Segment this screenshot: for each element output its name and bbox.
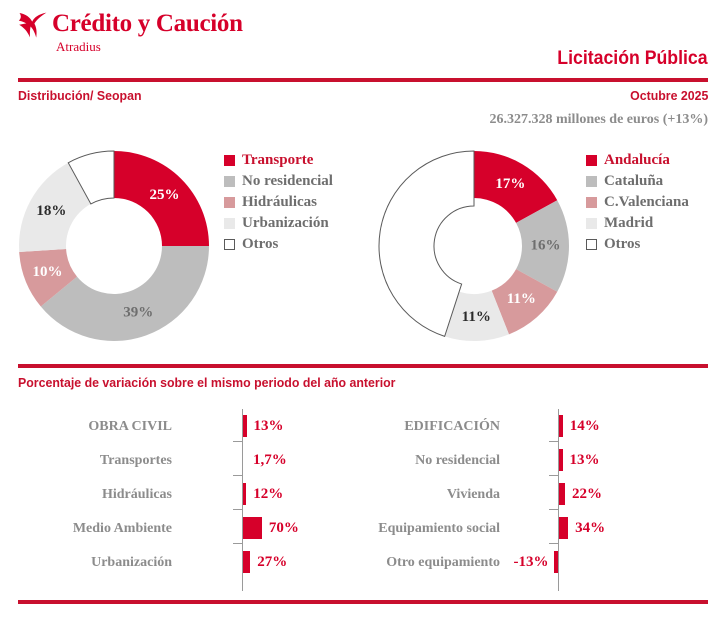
bar-chart-obra-civil: OBRA CIVIL13%Transportes1,7%Hidráulicas1…: [0, 405, 360, 595]
divider-middle: [18, 364, 708, 368]
donut-value-madrid: 11%: [462, 309, 491, 325]
bar-value-label: 70%: [269, 520, 299, 537]
legend-swatch-madrid: [586, 218, 597, 229]
legend-item[interactable]: Otros: [224, 234, 333, 255]
bar-axis-tick: [549, 543, 558, 544]
legend-item[interactable]: C.Valenciana: [586, 192, 689, 213]
divider-top: [18, 78, 708, 82]
donut-value-transporte: 25%: [150, 187, 180, 203]
bar-category-label: EDIFICACIÓN: [320, 419, 500, 435]
bar-value-label: 34%: [575, 520, 605, 537]
brand-logo: Crédito y Caución Atradius: [18, 8, 338, 58]
section-amount: 26.327.328 millones de euros (+13%): [490, 112, 709, 128]
legend-item[interactable]: Andalucía: [586, 150, 689, 171]
bar-category-label: Transportes: [0, 453, 172, 469]
brand-name: Crédito y Caución: [52, 10, 243, 38]
legend-item[interactable]: Madrid: [586, 213, 689, 234]
bar-axis-tick: [549, 441, 558, 442]
bar-value-label: 1,7%: [253, 452, 287, 469]
bar-row[interactable]: Hidráulicas12%: [0, 479, 360, 513]
section-label-left: Distribución/ Seopan: [18, 88, 142, 103]
donut-value-andaluc-a: 17%: [495, 176, 525, 192]
donut-chart-distribucion-svg: 25%39%10%18%: [14, 146, 214, 346]
legend-swatch-transporte: [224, 155, 235, 166]
bar-category-label: Urbanización: [0, 555, 172, 571]
donut-chart-comunidad-svg: 17%16%11%11%: [374, 146, 574, 346]
bar-category-label: Hidráulicas: [0, 487, 172, 503]
donut-value-no-residencial: 39%: [123, 305, 153, 321]
legend-item[interactable]: Otros: [586, 234, 689, 255]
bar-category-label: Medio Ambiente: [0, 521, 172, 537]
divider-bottom: [18, 600, 708, 604]
brand-subtitle: Atradius: [56, 39, 101, 55]
legend-label-otros: Otros: [604, 236, 640, 253]
bar-rect: [559, 415, 563, 437]
bar-row[interactable]: No residencial13%: [320, 445, 726, 479]
legend-swatch-hidraulicas: [224, 197, 235, 208]
legend-swatch-cvalenciana: [586, 197, 597, 208]
legend-swatch-otros: [586, 239, 597, 250]
bar-axis-tick: [233, 543, 242, 544]
bar-category-label: Otro equipamiento: [320, 555, 500, 571]
legend-item[interactable]: Cataluña: [586, 171, 689, 192]
legend-label-no-residencial: No residencial: [242, 173, 333, 190]
bar-value-label: 13%: [570, 452, 600, 469]
bar-category-label: OBRA CIVIL: [0, 419, 172, 435]
legend-label-transporte: Transporte: [242, 152, 313, 169]
bar-value-label: 27%: [257, 554, 287, 571]
legend-item[interactable]: Transporte: [224, 150, 333, 171]
bar-rect: [243, 551, 250, 573]
legend-swatch-no-residencial: [224, 176, 235, 187]
bar-row[interactable]: Transportes1,7%: [0, 445, 360, 479]
credito-y-caucion-star-icon: [18, 11, 48, 39]
legend-item[interactable]: Hidráulicas: [224, 192, 333, 213]
legend-label-andalucia: Andalucía: [604, 152, 670, 169]
legend-label-hidraulicas: Hidráulicas: [242, 194, 317, 211]
section-label-period: Octubre 2025: [630, 88, 708, 103]
bar-axis-tick: [549, 475, 558, 476]
donut-value-catalu-a: 16%: [531, 237, 561, 253]
variation-title: Porcentaje de variación sobre el mismo p…: [18, 375, 395, 390]
bar-value-label: -13%: [502, 554, 548, 571]
legend-swatch-andalucia: [586, 155, 597, 166]
donut-value-hidr-ulicas: 10%: [33, 264, 63, 280]
legend-item[interactable]: No residencial: [224, 171, 333, 192]
bar-rect: [559, 517, 568, 539]
legend-swatch-urbanizacion: [224, 218, 235, 229]
report-sheet: Crédito y Caución Atradius Licitación Pú…: [0, 0, 726, 617]
bar-row[interactable]: Urbanización27%: [0, 547, 360, 581]
donut-value-urbanizaci-n: 18%: [36, 203, 66, 219]
legend-item[interactable]: Urbanización: [224, 213, 333, 234]
bar-category-label: Equipamiento social: [320, 521, 500, 537]
bar-rect: [559, 449, 563, 471]
bar-value-label: 13%: [254, 418, 284, 435]
bar-rect: [243, 415, 247, 437]
legend-distribucion: Transporte No residencial Hidráulicas Ur…: [224, 150, 333, 255]
bar-axis-tick: [549, 509, 558, 510]
bar-rect: [243, 517, 262, 539]
bar-axis-tick: [233, 509, 242, 510]
bar-rect: [559, 483, 565, 505]
legend-swatch-cataluna: [586, 176, 597, 187]
bar-value-label: 22%: [572, 486, 602, 503]
legend-label-otros: Otros: [242, 236, 278, 253]
bar-row[interactable]: Medio Ambiente70%: [0, 513, 360, 547]
bar-axis-tick: [233, 475, 242, 476]
bar-value-label: 12%: [253, 486, 283, 503]
legend-swatch-otros: [224, 239, 235, 250]
bar-axis-tick: [233, 441, 242, 442]
bar-category-label: No residencial: [320, 453, 500, 469]
legend-label-cvalenciana: C.Valenciana: [604, 194, 689, 211]
page-title: Licitación Pública: [558, 48, 708, 70]
bar-rect: [243, 483, 246, 505]
bar-row[interactable]: Otro equipamiento-13%: [320, 547, 726, 581]
bar-category-label: Vivienda: [320, 487, 500, 503]
legend-label-cataluna: Cataluña: [604, 173, 663, 190]
legend-label-madrid: Madrid: [604, 215, 653, 232]
bar-chart-edificacion: EDIFICACIÓN14%No residencial13%Vivienda2…: [320, 405, 726, 595]
bar-row[interactable]: OBRA CIVIL13%: [0, 411, 360, 445]
bar-row[interactable]: Equipamiento social34%: [320, 513, 726, 547]
bar-rect: [554, 551, 558, 573]
donut-chart-comunidad: 17%16%11%11%: [374, 146, 574, 346]
donut-chart-distribucion: 25%39%10%18%: [14, 146, 214, 346]
legend-label-urbanizacion: Urbanización: [242, 215, 329, 232]
bar-row[interactable]: Vivienda22%: [320, 479, 726, 513]
bar-row[interactable]: EDIFICACIÓN14%: [320, 411, 726, 445]
bar-value-label: 14%: [570, 418, 600, 435]
donut-value-c-valenciana: 11%: [507, 291, 536, 307]
legend-comunidad: Andalucía Cataluña C.Valenciana Madrid O…: [586, 150, 689, 255]
